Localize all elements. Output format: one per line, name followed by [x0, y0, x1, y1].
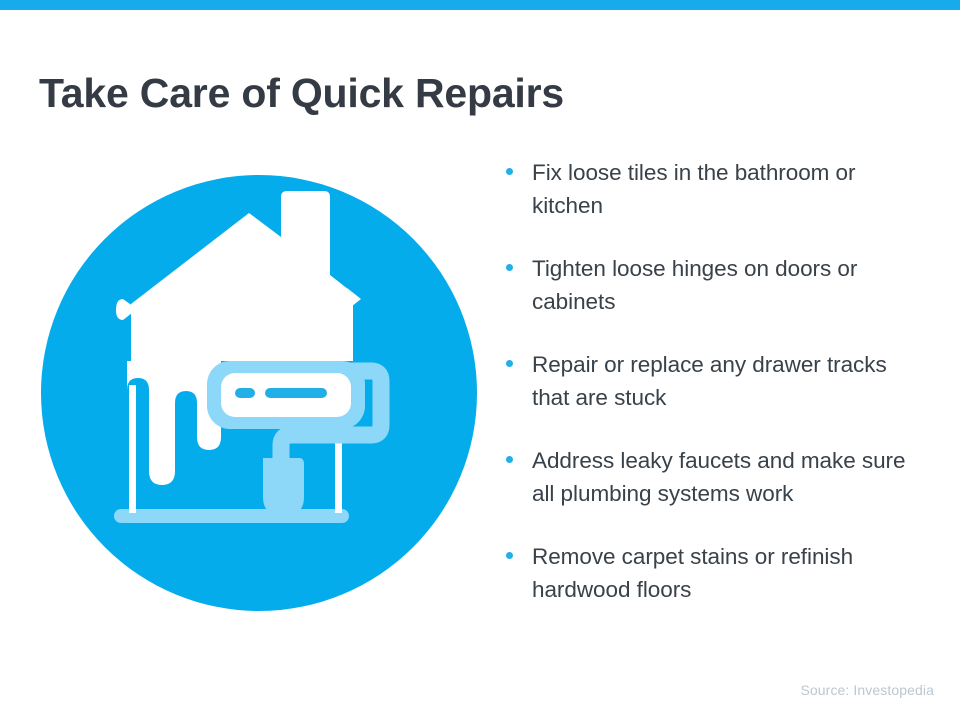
bullet-text: Repair or replace any drawer tracks that…: [532, 348, 930, 414]
roller-grip: [263, 458, 304, 515]
page-title: Take Care of Quick Repairs: [39, 68, 899, 118]
house-painting-roller-icon: [41, 175, 477, 611]
bullet-text: Fix loose tiles in the bathroom or kitch…: [532, 156, 930, 222]
bullet-dot-icon: [506, 552, 513, 559]
bullet-text: Tighten loose hinges on doors or cabinet…: [532, 252, 930, 318]
list-item: Fix loose tiles in the bathroom or kitch…: [500, 156, 930, 222]
house-painting-illustration: [41, 175, 477, 611]
list-item: Address leaky faucets and make sure all …: [500, 444, 930, 510]
bullet-dot-icon: [506, 264, 513, 271]
post-left: [129, 385, 136, 513]
top-accent-bar: [0, 0, 960, 10]
bullet-dot-icon: [506, 456, 513, 463]
list-item: Tighten loose hinges on doors or cabinet…: [500, 252, 930, 318]
roller-dash-short: [235, 388, 255, 398]
bullet-dot-icon: [506, 360, 513, 367]
list-item: Repair or replace any drawer tracks that…: [500, 348, 930, 414]
slide: Take Care of Quick Repairs: [0, 0, 960, 720]
bullet-text: Remove carpet stains or refinish hardwoo…: [532, 540, 930, 606]
source-attribution: Source: Investopedia: [800, 682, 934, 698]
list-item: Remove carpet stains or refinish hardwoo…: [500, 540, 930, 606]
bullet-dot-icon: [506, 168, 513, 175]
repairs-bullet-list: Fix loose tiles in the bathroom or kitch…: [500, 156, 930, 606]
ground-bar: [114, 509, 349, 523]
roller-dash-long: [265, 388, 327, 398]
bullet-text: Address leaky faucets and make sure all …: [532, 444, 930, 510]
